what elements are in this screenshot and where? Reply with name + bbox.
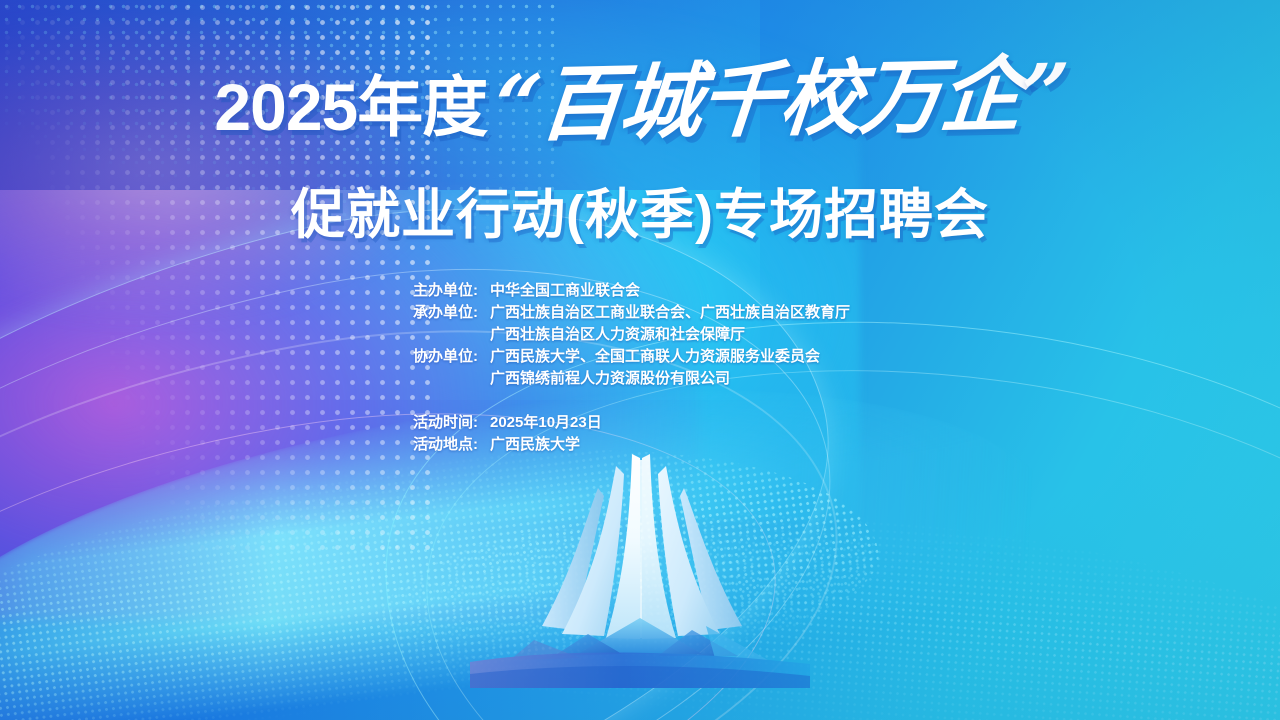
poster-canvas: 2025年度 “百城千校万企” 促就业行动(秋季)专场招聘会 主办单位: 中华全… bbox=[0, 0, 1280, 720]
edge-vignette bbox=[0, 0, 1280, 720]
